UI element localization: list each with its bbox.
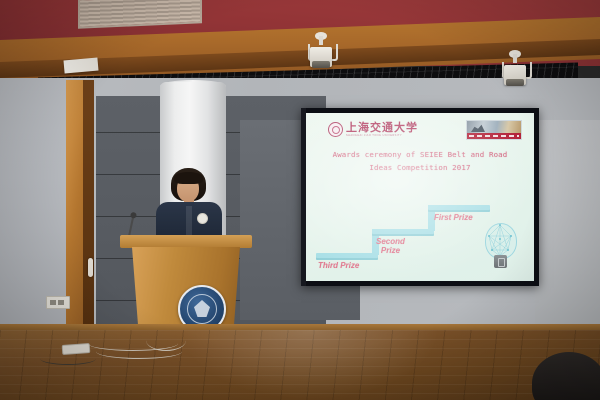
wood-pillar xyxy=(66,80,94,330)
speaker-badge xyxy=(197,213,208,224)
slide-title: Awards ceremony of SEIEE Belt and Road I… xyxy=(320,149,520,174)
photograph-scene: 上海交通大学 SHANGHAI JIAO TONG UNIVERSITY Awa… xyxy=(0,0,600,400)
slide-title-line1: Awards ceremony of SEIEE Belt and Road xyxy=(320,149,520,162)
slide-title-line2: Ideas Competition 2017 xyxy=(320,162,520,175)
sjtu-logo-chinese: 上海交通大学 xyxy=(346,122,418,133)
door-handle[interactable] xyxy=(88,258,93,277)
label-first-prize: First Prize xyxy=(434,213,473,222)
banner-photo xyxy=(467,121,521,133)
network-lightbulb-icon xyxy=(482,223,518,269)
label-second-prize-line2: Prize xyxy=(376,246,405,255)
sjtu-seal-icon xyxy=(328,122,343,137)
banner-caption-bar xyxy=(467,133,521,139)
projected-slide: 上海交通大学 SHANGHAI JIAO TONG UNIVERSITY Awa… xyxy=(306,113,534,281)
label-third-prize: Third Prize xyxy=(318,261,359,270)
sjtu-logo-english: SHANGHAI JIAO TONG UNIVERSITY xyxy=(346,135,418,138)
lightbulb-base xyxy=(494,255,507,268)
stage-spotlight-2 xyxy=(500,54,530,84)
campus-photo-banner xyxy=(466,120,522,140)
right-wall xyxy=(535,120,600,335)
step-second xyxy=(372,229,434,236)
label-second-prize: Second Prize xyxy=(376,237,405,255)
stage-spotlight-1 xyxy=(306,36,336,66)
sjtu-logo: 上海交通大学 SHANGHAI JIAO TONG UNIVERSITY xyxy=(328,122,418,137)
projection-screen-frame: 上海交通大学 SHANGHAI JIAO TONG UNIVERSITY Awa… xyxy=(301,108,539,286)
label-second-prize-line1: Second xyxy=(376,237,405,246)
wall-power-outlet[interactable] xyxy=(46,296,70,309)
podium-top xyxy=(120,235,252,248)
step-third xyxy=(316,253,378,260)
floor-cable-3 xyxy=(40,352,96,365)
prize-staircase-graphic: Third Prize Second Prize First Prize xyxy=(314,191,494,273)
step-first xyxy=(428,205,490,212)
floor-cable-4 xyxy=(146,330,186,351)
